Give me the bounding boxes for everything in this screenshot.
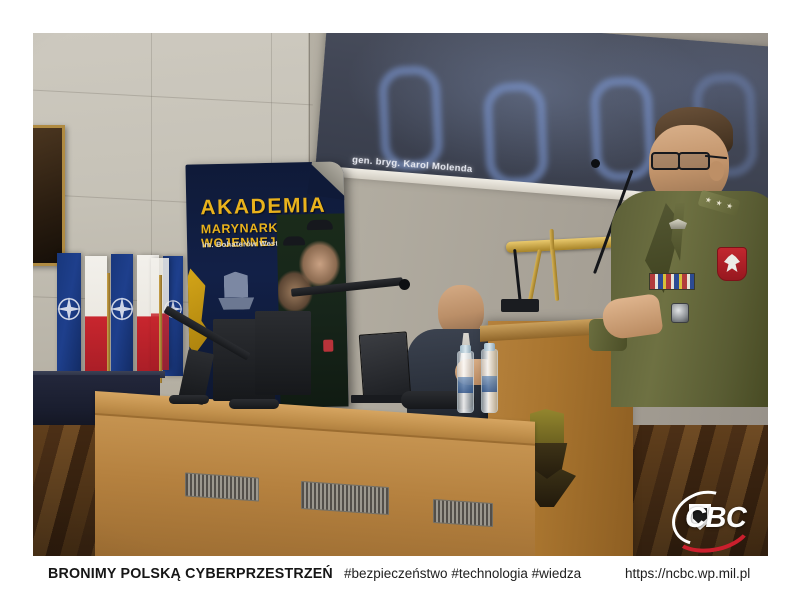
rank-star-icon bbox=[705, 196, 712, 203]
chest-badge bbox=[671, 303, 689, 323]
eyeglasses-icon bbox=[651, 152, 680, 170]
rank-star-icon bbox=[715, 199, 722, 206]
flag-nato bbox=[57, 253, 81, 381]
rank-star-icon bbox=[726, 202, 733, 209]
water-bottle bbox=[481, 349, 498, 413]
event-photograph: gen. bryg. Karol Molenda bbox=[33, 33, 768, 556]
table-speaker-grille bbox=[433, 499, 493, 527]
bottle-cap bbox=[484, 343, 495, 351]
photo-card: gen. bryg. Karol Molenda bbox=[0, 0, 800, 600]
bottle-label bbox=[482, 376, 497, 392]
speaker-ear bbox=[709, 161, 724, 181]
footer-slogan: BRONIMY POLSKĄ CYBERPRZESTRZEŃ bbox=[48, 565, 333, 582]
framed-picture-canvas bbox=[33, 128, 62, 263]
conference-table bbox=[95, 391, 535, 556]
cadet-cap bbox=[283, 236, 305, 245]
table-speaker-grille bbox=[185, 472, 259, 501]
projected-shape bbox=[378, 65, 444, 172]
bottle-cap bbox=[460, 345, 471, 353]
camera-equipment bbox=[255, 311, 311, 395]
speaker-hand bbox=[600, 293, 663, 341]
footer-url[interactable]: https://ncbc.wp.mil.pl bbox=[625, 566, 750, 581]
crest-sail bbox=[530, 409, 564, 443]
crest-sail bbox=[224, 271, 249, 297]
nato-compass-icon bbox=[107, 294, 137, 324]
cadet-cap bbox=[307, 220, 333, 231]
speaker-general bbox=[593, 107, 768, 407]
flag-poland bbox=[85, 256, 107, 378]
flag-pole bbox=[107, 273, 110, 383]
projected-shape bbox=[483, 81, 549, 188]
flag-pole bbox=[159, 275, 162, 383]
ncbc-logo: CBC bbox=[663, 490, 768, 546]
nato-compass-icon bbox=[54, 294, 84, 324]
cadet-flag-badge bbox=[323, 340, 333, 352]
boom-microphone-head bbox=[399, 279, 410, 290]
footer-hashtags: #bezpieczeństwo #technologia #wiedza bbox=[344, 566, 581, 581]
footer-bar: BRONIMY POLSKĄ CYBERPRZESTRZEŃ #bezpiecz… bbox=[0, 556, 800, 600]
laptop-screen bbox=[359, 331, 411, 400]
banner-laurel bbox=[185, 267, 213, 356]
equipment-base bbox=[169, 395, 209, 404]
microphone-base bbox=[501, 299, 539, 312]
equipment-base bbox=[229, 399, 279, 409]
framed-picture bbox=[33, 125, 65, 266]
polish-eagle-patch bbox=[717, 247, 747, 281]
eagle-icon bbox=[724, 254, 740, 272]
logo-wordmark: CBC bbox=[685, 502, 746, 535]
crest-hull bbox=[218, 297, 254, 310]
bottle-label bbox=[458, 377, 473, 393]
water-bottle bbox=[457, 351, 474, 413]
service-ribbons bbox=[649, 273, 695, 290]
flag-nato bbox=[111, 254, 133, 380]
